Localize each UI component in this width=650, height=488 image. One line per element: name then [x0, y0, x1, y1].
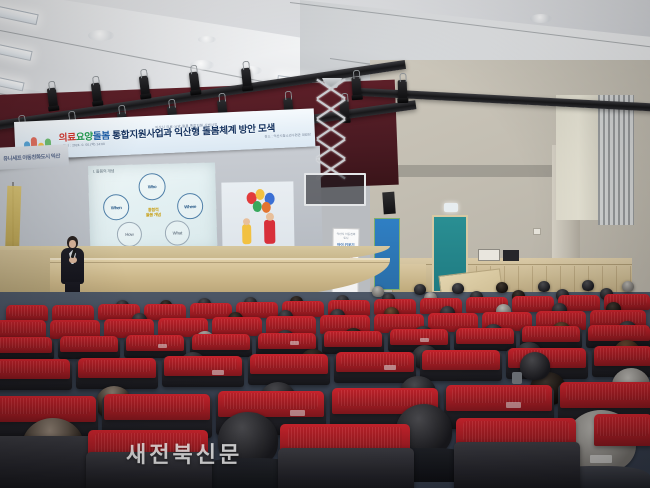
auditorium-seat[interactable]: [0, 359, 70, 379]
seat-number-tag: [158, 344, 167, 348]
auditorium-seat[interactable]: [192, 334, 250, 350]
audience-head: [582, 280, 594, 291]
banner-seg-2: 돌봄: [93, 131, 111, 143]
auditorium-seat[interactable]: [6, 305, 48, 321]
auditorium-seat[interactable]: [78, 358, 156, 378]
av-equipment-case: [503, 250, 519, 261]
auditorium-seat-back[interactable]: [454, 442, 580, 488]
seat-number-tag: [290, 341, 299, 345]
slide-bubble-where: Where: [177, 193, 204, 220]
banner-subtitle-right: 장소 : 익산시청소년수련관 대강당: [264, 133, 311, 139]
auditorium-seat[interactable]: [446, 385, 552, 411]
slide-bubble-how: How: [117, 222, 143, 248]
seat-number-tag: [506, 402, 521, 408]
auditorium-seat[interactable]: [126, 335, 184, 351]
auditorium-seat[interactable]: [588, 325, 650, 341]
audience-head: [622, 281, 634, 292]
slide-bubble-what: What: [165, 220, 191, 246]
slide-center-line2: 돌봄 개념: [146, 212, 161, 218]
stage-spotlight: [241, 68, 252, 89]
auditorium-seat[interactable]: [594, 414, 650, 446]
seat-number-tag: [590, 455, 612, 463]
standing-banner-line1: 익산시 아동친화도시: [335, 233, 356, 241]
auditorium-seat[interactable]: [390, 329, 448, 345]
presenter-face: [69, 240, 76, 248]
phone-icon: [512, 372, 522, 384]
auditorium-seat[interactable]: [512, 296, 554, 312]
auditorium-seat[interactable]: [60, 336, 118, 352]
slide-bubble-when: When: [103, 194, 130, 221]
seat-number-tag: [420, 338, 429, 342]
left-wall-banner-text: 유니세프 아동친화도시 익산: [3, 152, 60, 163]
audience-head: [372, 286, 384, 297]
auditorium-seat[interactable]: [104, 394, 210, 420]
banner-subtitle-left: 일시 : 2024. 0. 00.(목) 14:00: [63, 142, 105, 148]
stage-spotlight: [398, 80, 408, 100]
auditorium-seat-back[interactable]: [278, 448, 414, 488]
seat-number-tag: [212, 370, 224, 375]
ceiling-dome-light: [530, 14, 552, 23]
auditorium-seat[interactable]: [52, 305, 94, 321]
balloon-icon: [262, 202, 271, 213]
auditorium-seat[interactable]: [422, 350, 500, 370]
seat-number-tag: [290, 410, 305, 416]
curtain-pleats: [598, 95, 634, 225]
door-blue[interactable]: [374, 218, 400, 290]
auditorium-seat[interactable]: [218, 391, 324, 417]
slide-bubble-who: Who: [138, 173, 166, 201]
audience-head: [520, 352, 550, 380]
auditorium-seat[interactable]: [456, 328, 514, 344]
auditorium-photo: 익산시 의료·요양·돌봄 통합지원 시범사업 의료요양돌봄 통합지원사업과 익산…: [0, 0, 650, 488]
balloon-icon: [255, 189, 264, 200]
child-head: [243, 218, 250, 225]
banner-seg-0: 의료: [59, 132, 77, 144]
auditorium-seat[interactable]: [258, 333, 316, 349]
ceiling-dome-light: [198, 36, 216, 43]
balloon-icon: [253, 201, 262, 212]
auditorium-seat[interactable]: [164, 356, 242, 376]
av-equipment-box: [478, 249, 500, 261]
left-wall-banner: 유니세프 아동친화도시 익산: [0, 144, 69, 170]
auditorium-seat[interactable]: [0, 337, 52, 353]
basketball-backboard: [304, 173, 366, 206]
slide-center-label: 통합적 돌봄 개념: [137, 204, 169, 221]
ceiling-dome-light: [88, 30, 114, 41]
auditorium-seat[interactable]: [522, 326, 580, 342]
auditorium-seat[interactable]: [324, 331, 382, 347]
audience-head: [496, 282, 508, 293]
audience-head: [538, 281, 550, 292]
watermark: 새전북신문: [126, 437, 242, 469]
exit-lamp-icon: [444, 203, 458, 212]
audience-head: [414, 284, 426, 295]
auditorium-seat[interactable]: [336, 352, 414, 372]
wall-outlet-icon: [533, 228, 541, 235]
slide-title: Ⅰ. 돌봄의 개념: [93, 168, 114, 175]
audience-head: [452, 283, 464, 294]
auditorium-seat[interactable]: [250, 354, 328, 374]
banner-seg-1: 요양: [76, 131, 94, 143]
child-figure: [242, 224, 251, 244]
projection-screen: Ⅰ. 돌봄의 개념 Who When Where How What 통합적 돌봄…: [88, 162, 217, 254]
seat-number-tag: [384, 365, 396, 370]
auditorium-seat[interactable]: [560, 382, 650, 408]
wall-speaker-icon: [382, 192, 396, 215]
child-figure: [264, 220, 275, 244]
auditorium-seat[interactable]: [594, 346, 650, 366]
child-head: [266, 213, 274, 221]
